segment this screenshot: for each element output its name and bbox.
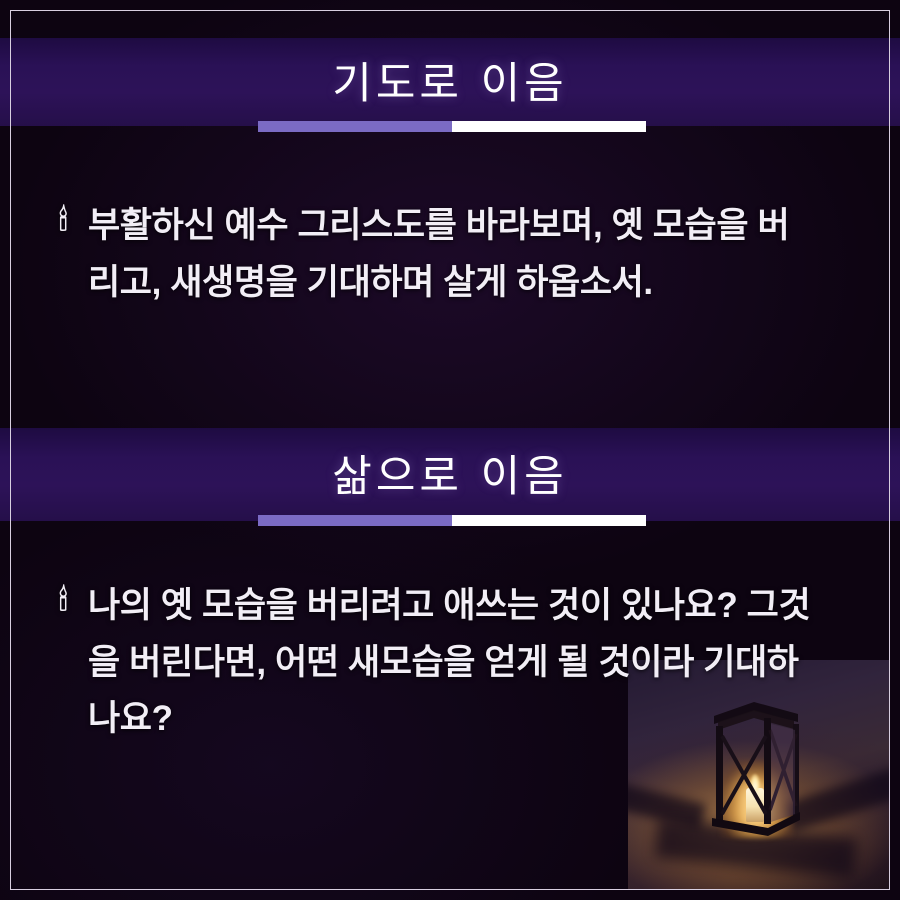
rule-left-segment xyxy=(258,121,452,132)
body-line: 을 버린다면, 어떤 새모습을 얻게 될 것이라 기대하 xyxy=(88,635,866,692)
section-title-1: 기도로 이음 xyxy=(332,49,567,111)
candle-icon: 🕯 xyxy=(46,578,80,625)
section-rule-2 xyxy=(258,515,646,526)
rule-right-segment xyxy=(452,515,646,526)
devotional-card: 기도로 이음 🕯 부활하신 예수 그리스도를 바라보며, 옛 모습을 버 리고,… xyxy=(0,0,900,900)
candle-icon: 🕯 xyxy=(46,198,80,245)
section-body-1: 🕯 부활하신 예수 그리스도를 바라보며, 옛 모습을 버 리고, 새생명을 기… xyxy=(46,198,866,311)
section-banner-1: 기도로 이음 xyxy=(0,38,900,126)
section-rule-1 xyxy=(258,121,646,132)
rule-left-segment xyxy=(258,515,452,526)
body-line: 나의 옛 모습을 버리려고 애쓰는 것이 있나요? 그것 xyxy=(88,578,866,635)
section-body-text-2: 나의 옛 모습을 버리려고 애쓰는 것이 있나요? 그것 을 버린다면, 어떤 … xyxy=(88,578,866,748)
body-line: 나요? xyxy=(88,691,866,748)
section-body-text-1: 부활하신 예수 그리스도를 바라보며, 옛 모습을 버 리고, 새생명을 기대하… xyxy=(88,198,866,311)
section-body-2: 🕯 나의 옛 모습을 버리려고 애쓰는 것이 있나요? 그것 을 버린다면, 어… xyxy=(46,578,866,748)
section-title-2: 삶으로 이음 xyxy=(332,442,567,504)
rule-right-segment xyxy=(452,121,646,132)
body-line: 부활하신 예수 그리스도를 바라보며, 옛 모습을 버 xyxy=(88,198,866,255)
section-banner-2: 삶으로 이음 xyxy=(0,428,900,521)
body-line: 리고, 새생명을 기대하며 살게 하옵소서. xyxy=(88,255,866,312)
